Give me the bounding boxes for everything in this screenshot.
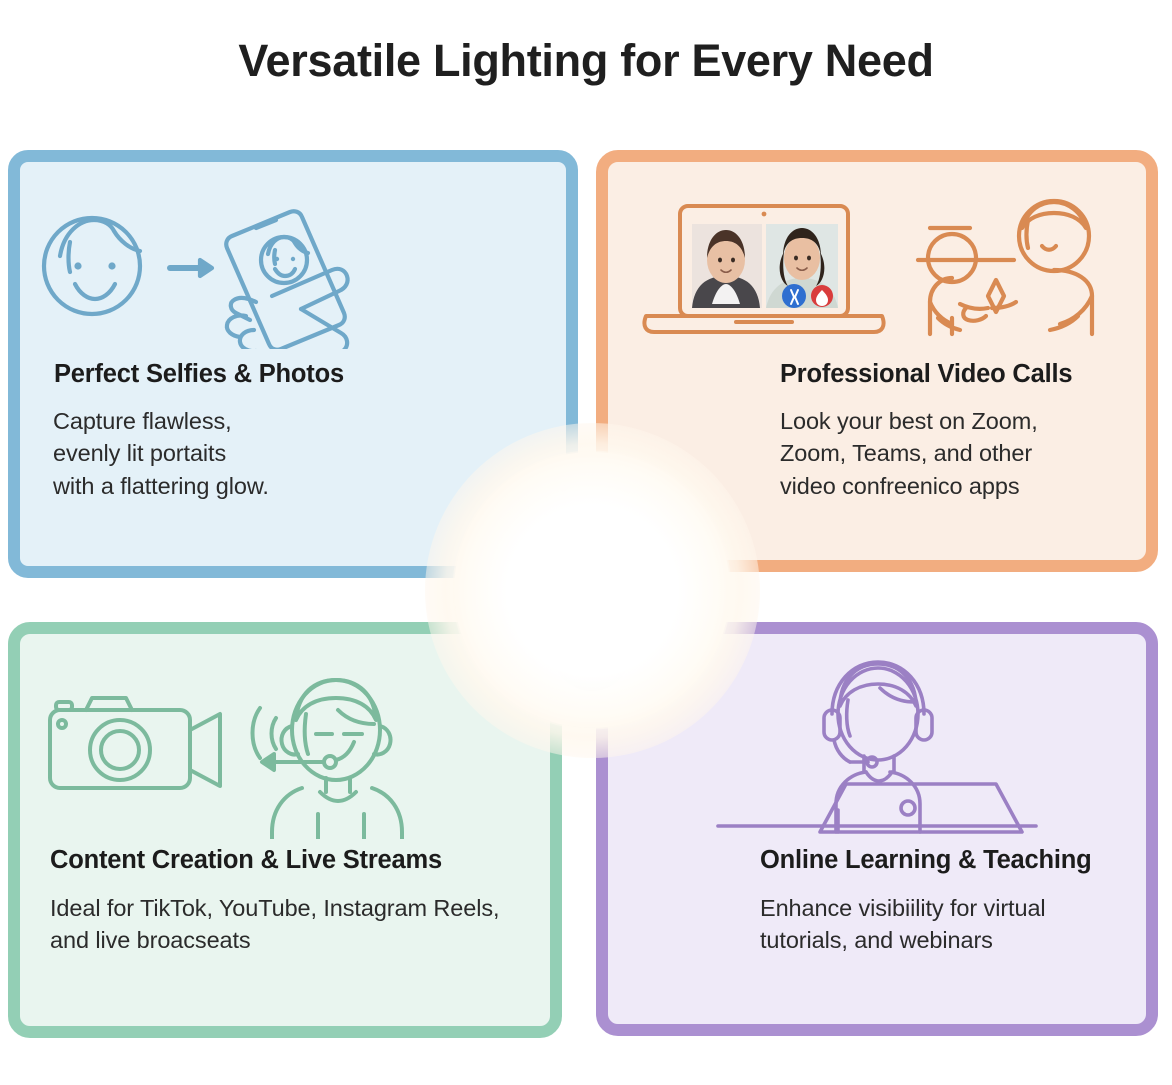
card-content-body: Ideal for TikTok, YouTube, Instagram Ree…	[50, 892, 499, 957]
video-camera-icon	[20, 664, 550, 839]
card-perfect-selfies[interactable]: Perfect Selfies & Photos Capture flawles…	[8, 150, 578, 578]
two-people-handshake-icon	[918, 201, 1092, 334]
card-professional-video-calls[interactable]: Professional Video Calls Look your best …	[596, 150, 1158, 572]
card-learning-body: Enhance visibiility for virtual tutorial…	[760, 892, 1046, 957]
laptop-video-call-icon	[608, 184, 1146, 349]
smiling-face-icon	[20, 184, 566, 349]
arrow-right-icon	[170, 260, 212, 276]
card-selfies-icon-group	[20, 184, 566, 349]
card-online-learning[interactable]: Online Learning & Teaching Enhance visib…	[596, 622, 1158, 1036]
card-selfies-title: Perfect Selfies & Photos	[54, 360, 344, 389]
hand-holding-phone-selfie-icon	[226, 211, 347, 349]
card-learning-icon-group	[608, 644, 1146, 839]
card-learning-title: Online Learning & Teaching	[760, 846, 1092, 875]
card-content-icon-group	[20, 664, 550, 839]
card-video-body: Look your best on Zoom, Zoom, Teams, and…	[780, 405, 1038, 502]
card-video-title: Professional Video Calls	[780, 360, 1072, 389]
card-selfies-body: Capture flawless, evenly lit portaits wi…	[53, 405, 269, 502]
card-content-creation[interactable]: Content Creation & Live Streams Ideal fo…	[8, 622, 562, 1038]
person-headset-laptop-icon	[608, 644, 1146, 839]
card-content-title: Content Creation & Live Streams	[50, 846, 442, 875]
card-video-icon-group	[608, 184, 1146, 349]
page-title: Versatile Lighting for Every Need	[0, 38, 1172, 83]
person-with-headset-speaking-icon	[253, 680, 403, 839]
